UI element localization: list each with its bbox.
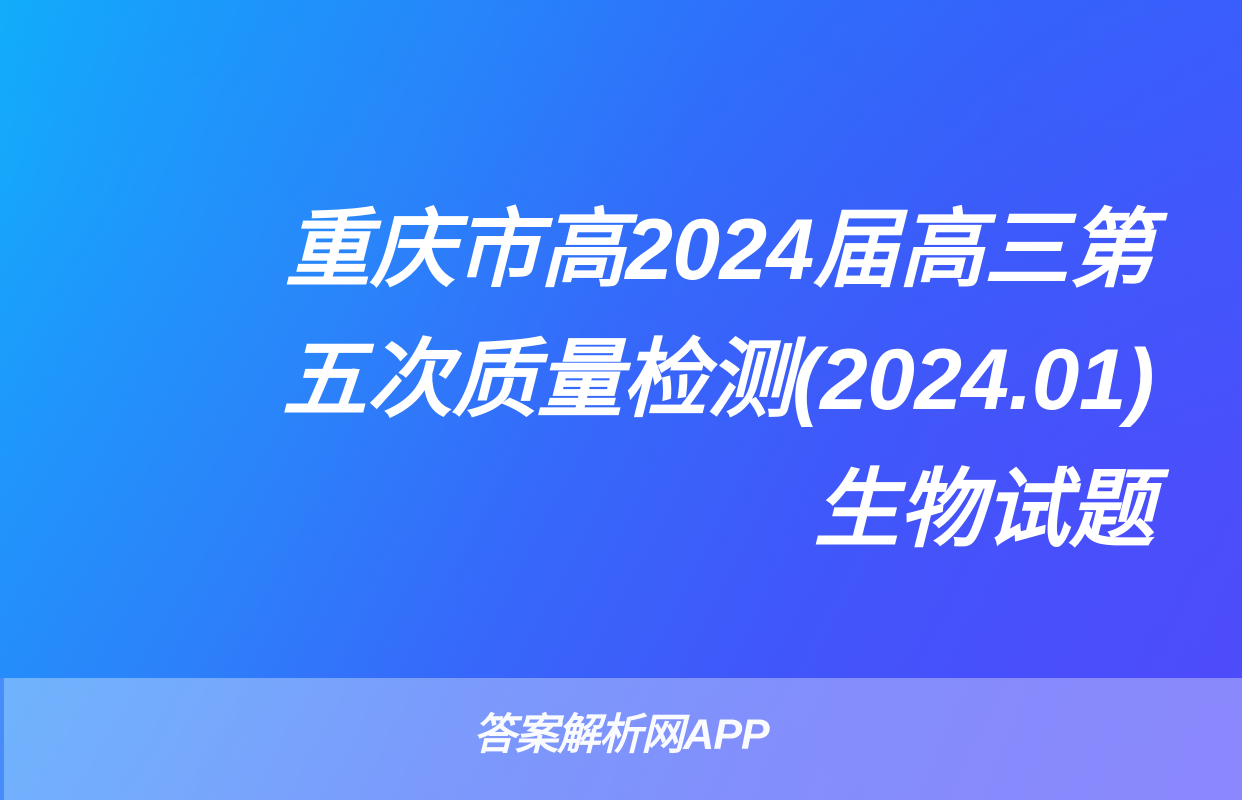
exam-cover-card: 重庆市高2024届高三第 五次质量检测(2024.01) 生物试题 答案解析网A… [0,0,1242,800]
app-watermark: 答案解析网APP [0,700,1242,762]
title-line-1: 重庆市高2024届高三第 [6,186,1154,316]
title-line-2: 五次质量检测(2024.01) [6,316,1154,446]
title-line-3: 生物试题 [6,446,1154,576]
page-title: 重庆市高2024届高三第 五次质量检测(2024.01) 生物试题 [0,0,1242,576]
